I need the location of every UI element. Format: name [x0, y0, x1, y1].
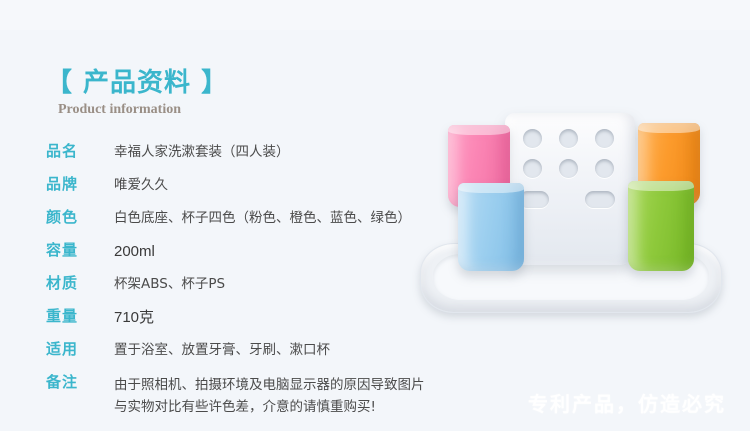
- holder-hole: [559, 129, 578, 148]
- note-line-1: 由于照相机、拍摄环境及电脑显示器的原因导致图片: [114, 377, 425, 393]
- spec-label: 品牌: [46, 175, 114, 194]
- product-info-page: 【 产品资料 】 Product information 品名 幸福人家洗漱套装…: [0, 0, 750, 431]
- product-image: [400, 95, 740, 325]
- spec-value: 置于浴室、放置牙膏、牙刷、漱口杯: [114, 340, 330, 360]
- holder-slot: [585, 191, 615, 208]
- holder-hole: [595, 159, 614, 178]
- spec-value: 白色底座、杯子四色（粉色、橙色、蓝色、绿色）: [114, 208, 411, 228]
- spec-label: 适用: [46, 340, 114, 359]
- page-title-cn: 【 产品资料 】: [46, 68, 228, 98]
- spec-value: 杯架ABS、杯子PS: [114, 274, 225, 294]
- page-title-en: Product information: [58, 102, 228, 118]
- spec-value: 200ml: [114, 241, 155, 261]
- spec-label: 重量: [46, 307, 114, 326]
- cup-blue: [458, 183, 524, 271]
- spec-label: 容量: [46, 241, 114, 260]
- spec-note-value: 由于照相机、拍摄环境及电脑显示器的原因导致图片 与实物对比有些许色差，介意的请慎…: [114, 373, 425, 418]
- footer-slogan: 专利产品，仿造必究: [528, 388, 726, 417]
- spec-label: 材质: [46, 274, 114, 293]
- holder-hole: [559, 159, 578, 178]
- spec-row: 适用 置于浴室、放置牙膏、牙刷、漱口杯: [46, 340, 476, 360]
- holder-hole: [523, 129, 542, 148]
- note-line-2: 与实物对比有些许色差，介意的请慎重购买!: [114, 396, 425, 418]
- toothbrush-holder: [505, 113, 635, 265]
- spec-value: 710克: [114, 307, 154, 327]
- page-title: 【 产品资料 】 Product information: [46, 68, 228, 118]
- holder-hole: [523, 159, 542, 178]
- spec-value: 幸福人家洗漱套装（四人装）: [114, 142, 290, 162]
- cup-green: [628, 181, 694, 271]
- spec-label: 颜色: [46, 208, 114, 227]
- spec-label: 备注: [46, 373, 114, 392]
- spec-row-note: 备注 由于照相机、拍摄环境及电脑显示器的原因导致图片 与实物对比有些许色差，介意…: [46, 373, 476, 418]
- holder-hole: [595, 129, 614, 148]
- spec-value: 唯爱久久: [114, 175, 168, 195]
- spec-label: 品名: [46, 142, 114, 161]
